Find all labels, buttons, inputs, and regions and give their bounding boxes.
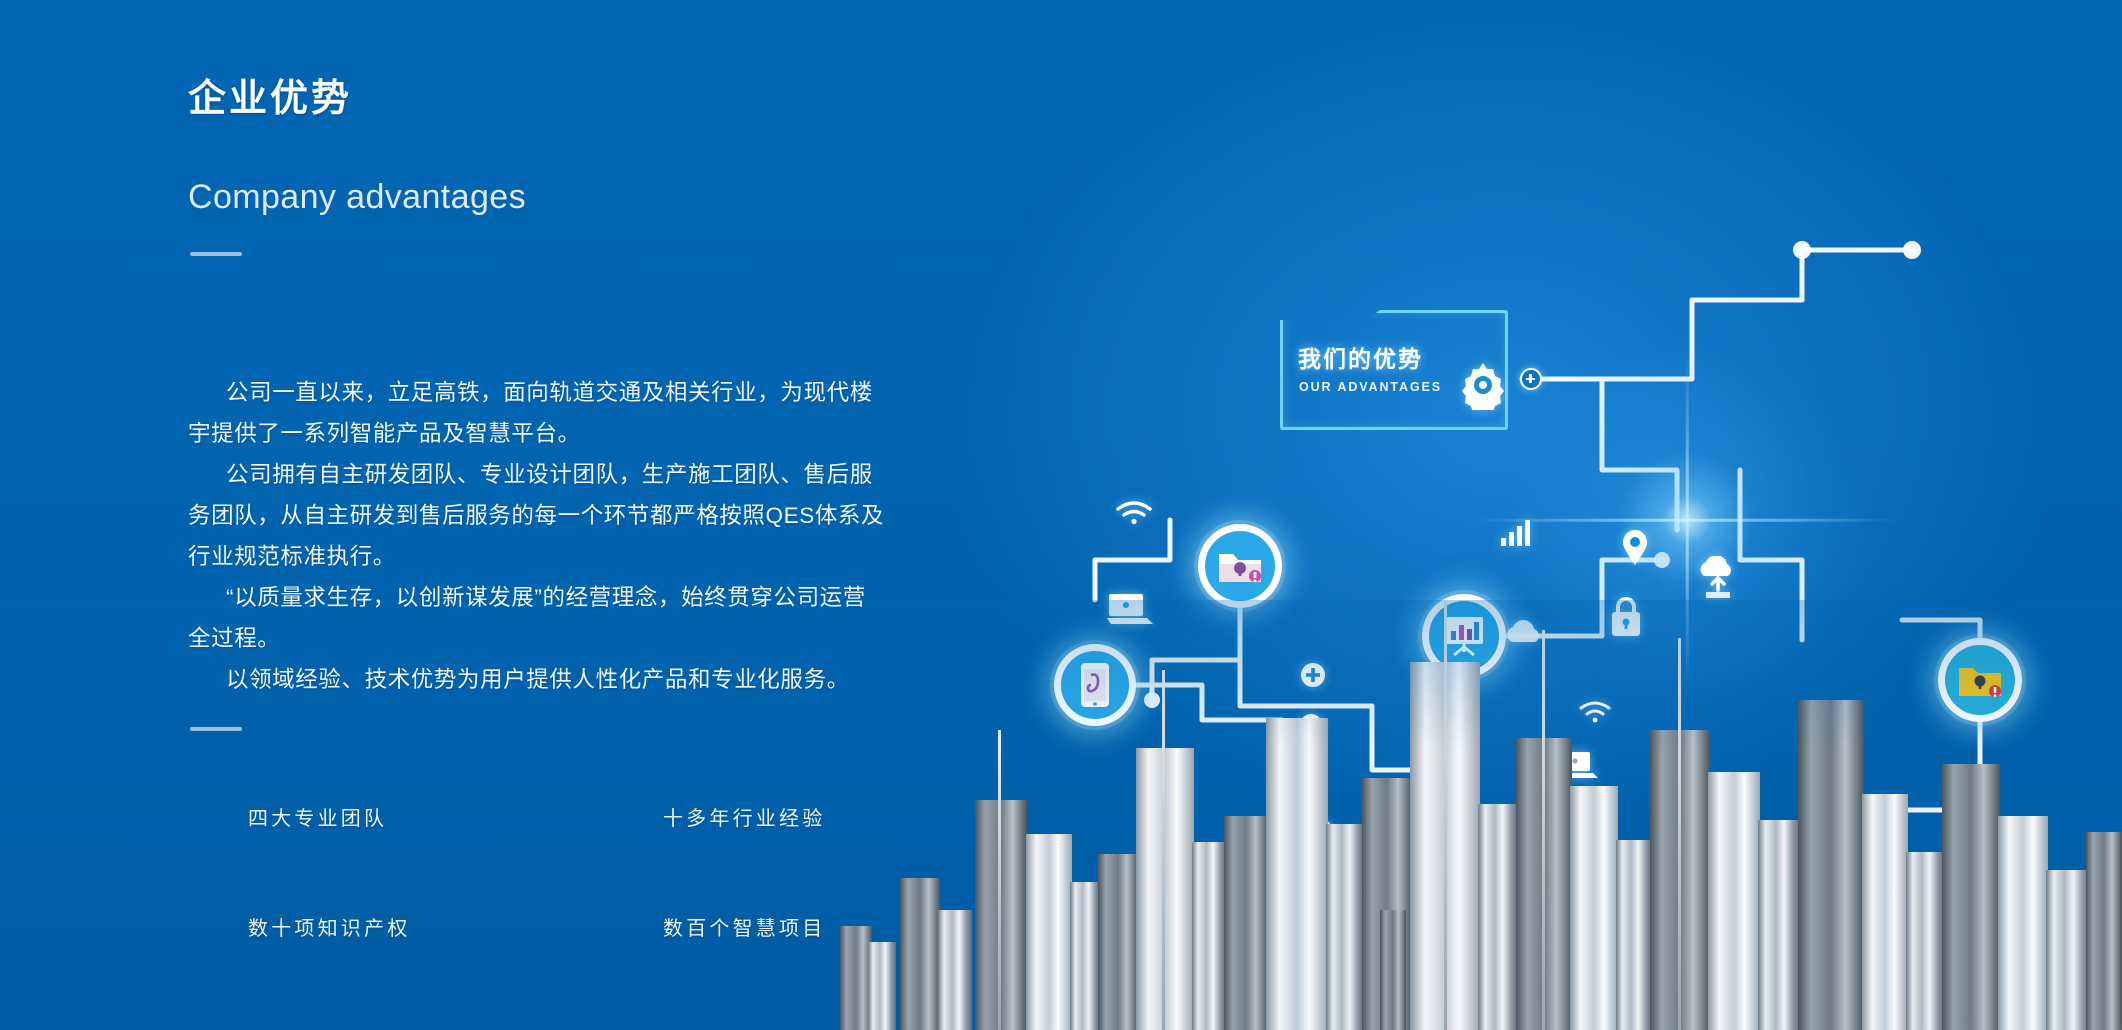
paragraph-line: 务团队，从自主研发到售后服务的每一个环节都严格按照QES体系及 bbox=[188, 495, 978, 536]
signal-bars-icon bbox=[1500, 520, 1530, 546]
map-pin-icon bbox=[1622, 530, 1648, 566]
paragraph-line: 以领域经验、技术优势为用户提供人性化产品和专业化服务。 bbox=[188, 659, 978, 700]
page-title-en: Company advantages bbox=[188, 180, 526, 214]
paragraph-line: 公司拥有自主研发团队、专业设计团队，生产施工团队、售后服 bbox=[188, 454, 978, 495]
stat-item: 数十项知识产权 bbox=[248, 912, 663, 941]
paragraph-line: 宇提供了一系列智能产品及智慧平台。 bbox=[188, 413, 978, 454]
stats-row: 数十项知识产权 数百个智慧项目 bbox=[248, 912, 938, 941]
stat-item: 数百个智慧项目 bbox=[663, 912, 825, 941]
paragraph-line: “以质量求生存，以创新谋发展”的经营理念，始终贯穿公司运营 bbox=[188, 577, 978, 618]
callout-title-en: OUR ADVANTAGES bbox=[1299, 380, 1442, 394]
divider-bottom bbox=[190, 727, 242, 731]
stats-grid: 四大专业团队 十多年行业经验 数十项知识产权 数百个智慧项目 bbox=[248, 802, 938, 941]
page-title-cn: 企业优势 bbox=[188, 80, 352, 118]
cloud-upload-icon bbox=[1692, 556, 1744, 600]
folder-lock-icon bbox=[1198, 524, 1282, 608]
body-paragraphs: 公司一直以来，立足高铁，面向轨道交通及相关行业，为现代楼 宇提供了一系列智能产品… bbox=[188, 372, 978, 700]
divider-top bbox=[190, 252, 242, 256]
slide-canvas: 我们的优势 OUR ADVANTAGES bbox=[0, 0, 2122, 1030]
callout-title-cn: 我们的优势 bbox=[1298, 340, 1423, 374]
wifi-icon bbox=[1114, 500, 1154, 526]
paragraph-line: 行业规范标准执行。 bbox=[188, 536, 978, 577]
paragraph-line: 公司一直以来，立足高铁，面向轨道交通及相关行业，为现代楼 bbox=[188, 372, 978, 413]
paragraph-line: 全过程。 bbox=[188, 618, 978, 659]
stat-item: 四大专业团队 bbox=[248, 802, 663, 831]
stats-row: 四大专业团队 十多年行业经验 bbox=[248, 802, 938, 831]
plus-node-icon bbox=[1520, 368, 1542, 390]
stat-item: 十多年行业经验 bbox=[663, 802, 825, 831]
gear-icon-top bbox=[1458, 360, 1508, 410]
content-column: 企业优势 Company advantages 公司一直以来，立足高铁，面向轨道… bbox=[188, 0, 998, 1030]
